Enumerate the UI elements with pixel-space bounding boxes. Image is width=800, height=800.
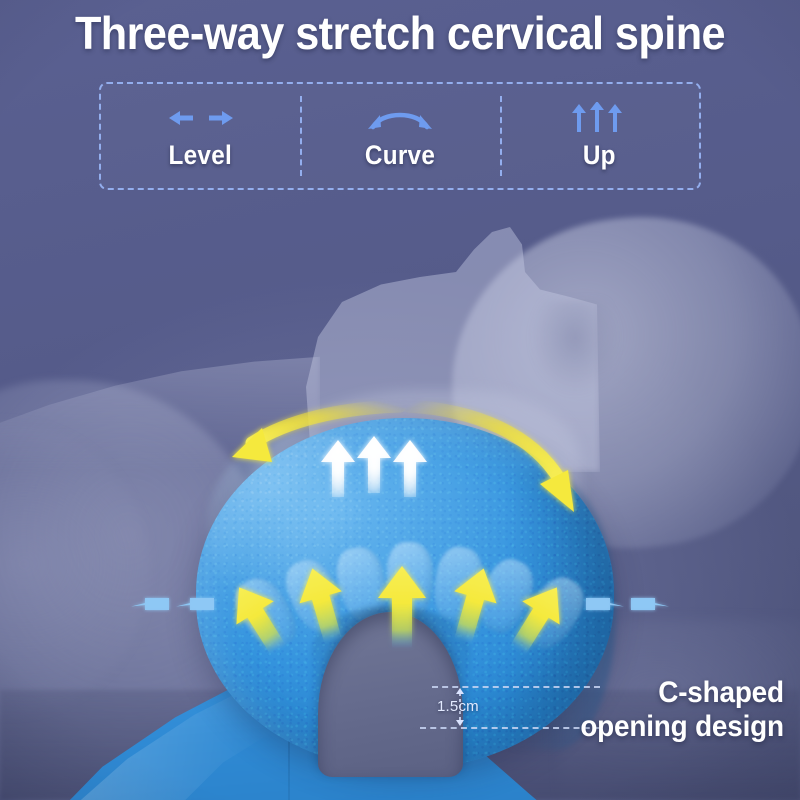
- feature-label-level: Level: [169, 140, 232, 171]
- dimension-line-bottom: [420, 727, 600, 729]
- feature-item-curve[interactable]: Curve: [300, 84, 499, 188]
- feature-label-curve: Curve: [365, 140, 435, 171]
- dimension-line-top: [432, 686, 600, 688]
- c-shaped-line-2: opening design: [580, 710, 784, 744]
- illustration-stage: 1.5cm C-shaped opening design Three-way …: [0, 0, 800, 800]
- double-horizontal-arrow-icon: [165, 101, 237, 135]
- feature-item-up[interactable]: Up: [500, 84, 699, 188]
- triple-up-arrow-icon: [564, 101, 634, 135]
- arc-double-arrow-icon: [360, 101, 440, 135]
- page-title: Three-way stretch cervical spine: [24, 6, 776, 60]
- dimension-label: 1.5cm: [437, 698, 479, 715]
- c-shaped-line-1: C-shaped: [580, 676, 784, 710]
- feature-box: Level Curve Up: [99, 82, 701, 190]
- c-shaped-design-callout: C-shaped opening design: [580, 676, 784, 743]
- feature-item-level[interactable]: Level: [101, 84, 300, 188]
- feature-label-up: Up: [583, 140, 616, 171]
